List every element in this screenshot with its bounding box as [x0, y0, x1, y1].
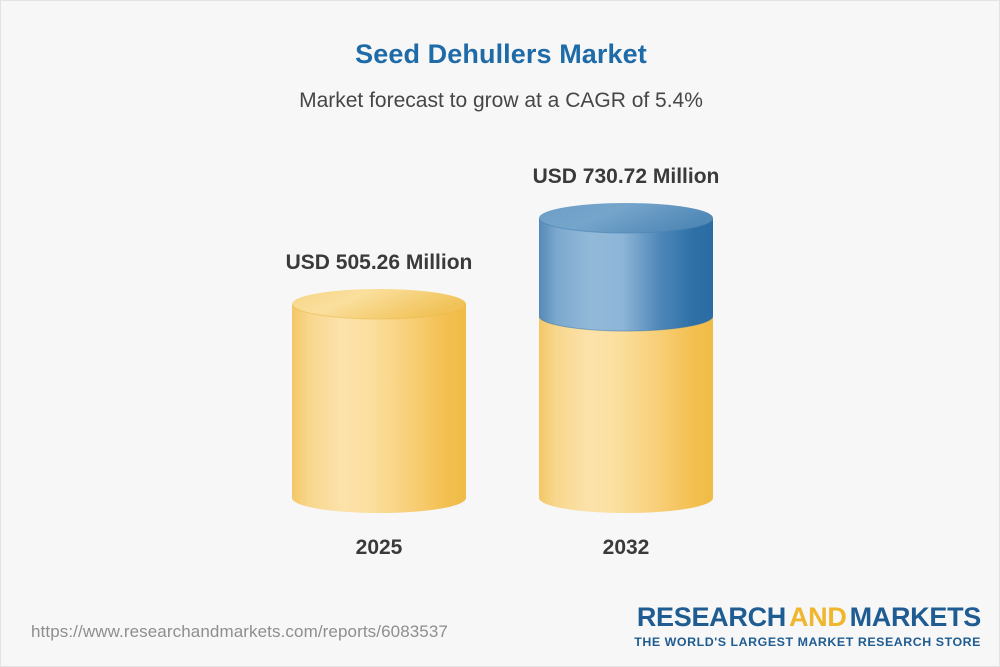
logo-word-and: AND: [789, 602, 847, 632]
value-label-2025: USD 505.26 Million: [232, 251, 526, 275]
cylinder-2025-svg: [292, 289, 466, 513]
source-url[interactable]: https://www.researchandmarkets.com/repor…: [31, 622, 448, 642]
value-label-2032: USD 730.72 Million: [479, 165, 773, 189]
cylinder-2025[interactable]: [292, 289, 466, 513]
plot-area: USD 505.26 Million: [1, 1, 1000, 667]
logo-tagline: THE WORLD'S LARGEST MARKET RESEARCH STOR…: [634, 636, 981, 648]
category-label-2025: 2025: [252, 536, 506, 560]
cylinder-2032[interactable]: [539, 203, 713, 513]
cylinder-2032-svg: [539, 203, 713, 513]
logo-wordmark: RESEARCHANDMARKETS: [634, 604, 981, 631]
logo-word-research: RESEARCH: [637, 602, 786, 632]
category-label-2032: 2032: [499, 536, 753, 560]
chart-canvas: Seed Dehullers Market Market forecast to…: [0, 0, 1000, 667]
logo-word-markets: MARKETS: [850, 602, 981, 632]
research-and-markets-logo[interactable]: RESEARCHANDMARKETS THE WORLD'S LARGEST M…: [634, 604, 981, 648]
